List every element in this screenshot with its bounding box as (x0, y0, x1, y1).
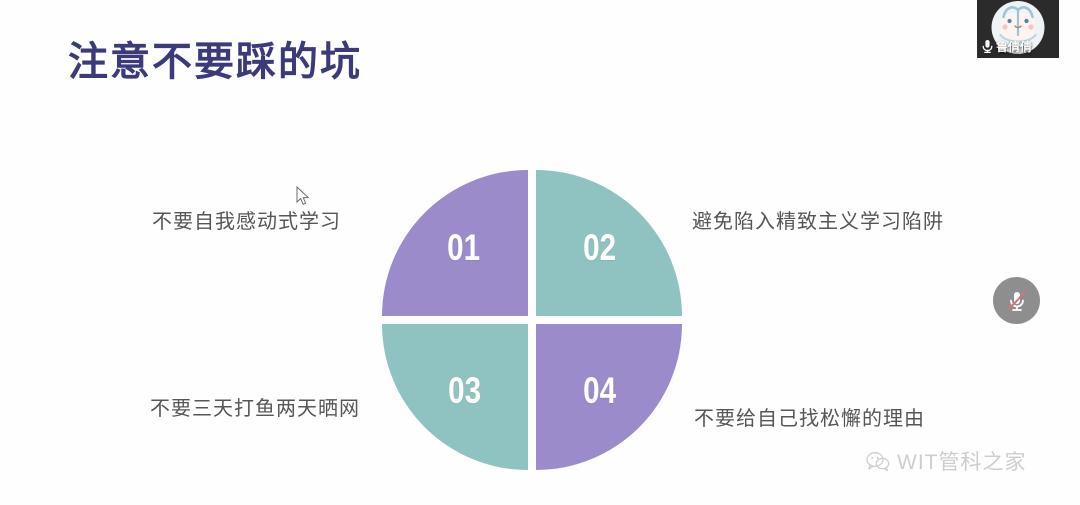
pie-slice-04-number: 04 (584, 370, 617, 412)
quadrant-pie-chart: 01 02 03 04 (382, 170, 682, 470)
pie-slice-04: 04 (536, 324, 682, 470)
pie-slice-02-label: 避免陷入精致主义学习陷阱 (692, 209, 944, 235)
pie-slice-03-number: 03 (449, 370, 482, 412)
pie-slice-02-number: 02 (584, 227, 617, 269)
pie-slice-01: 01 (382, 170, 528, 316)
presentation-slide: 注意不要踩的坑 01 02 03 04 不要自我感动式学习 避免陷入精致主义学习… (0, 0, 1080, 505)
microphone-muted-icon (1002, 286, 1032, 316)
webcam-name-bar: 鲁倩倩 (981, 38, 1032, 55)
pie-slice-02: 02 (536, 170, 682, 316)
pie-slice-04-label: 不要给自己找松懈的理由 (694, 406, 925, 432)
wechat-icon (866, 451, 890, 472)
watermark: WIT管科之家 (866, 446, 1026, 476)
pie-slice-03: 03 (382, 324, 528, 470)
microphone-icon (981, 39, 994, 54)
webcam-participant-name: 鲁倩倩 (996, 38, 1032, 55)
microphone-muted-button[interactable] (993, 277, 1040, 324)
pie-slice-01-label: 不要自我感动式学习 (152, 209, 341, 235)
page-title: 注意不要踩的坑 (68, 38, 362, 86)
watermark-text: WIT管科之家 (897, 446, 1026, 476)
webcam-participant-tile[interactable]: 鲁倩倩 (977, 0, 1059, 58)
arrow-cursor-icon (296, 186, 310, 206)
pie-slice-01-number: 01 (448, 227, 481, 269)
pie-slice-03-label: 不要三天打鱼两天晒网 (150, 396, 360, 422)
